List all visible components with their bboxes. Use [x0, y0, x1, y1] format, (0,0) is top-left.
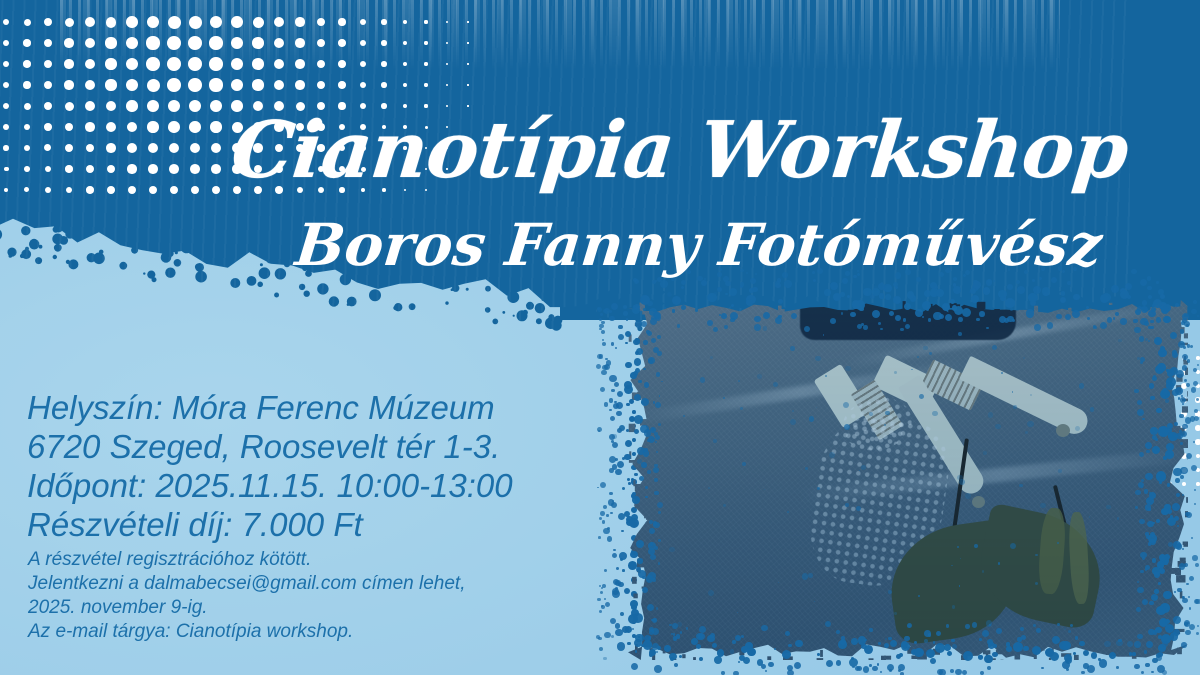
fineprint-line-1: A részvétel regisztrációhoz kötött.: [28, 548, 466, 572]
page-title: Cianotípia Workshop: [228, 112, 1131, 190]
fineprint-line-4: Az e-mail tárgya: Cianotípia workshop.: [28, 620, 466, 644]
fineprint-line-2: Jelentkezni a dalmabecsei@gmail.com címe…: [28, 572, 466, 596]
registration-notice: A részvétel regisztrációhoz kötött. Jele…: [28, 548, 466, 644]
fineprint-line-3: 2025. november 9-ig.: [28, 596, 466, 620]
detail-fee: Részvételi díj: 7.000 Ft: [27, 505, 513, 544]
photo-image: [628, 300, 1188, 660]
page-subtitle: Boros Fanny Fotóművész: [293, 216, 1105, 274]
detail-address: 6720 Szeged, Roosevelt tér 1-3.: [27, 427, 513, 466]
event-details: Helyszín: Móra Ferenc Múzeum 6720 Szeged…: [27, 388, 513, 544]
detail-time: Időpont: 2025.11.15. 10:00-13:00: [27, 466, 513, 505]
detail-venue: Helyszín: Móra Ferenc Múzeum: [27, 388, 513, 427]
poster-canvas: Cianotípia Workshop Boros Fanny Fotóművé…: [0, 0, 1200, 675]
photo-blue-tint: [628, 300, 1188, 660]
cyanotype-photo: [628, 300, 1188, 660]
